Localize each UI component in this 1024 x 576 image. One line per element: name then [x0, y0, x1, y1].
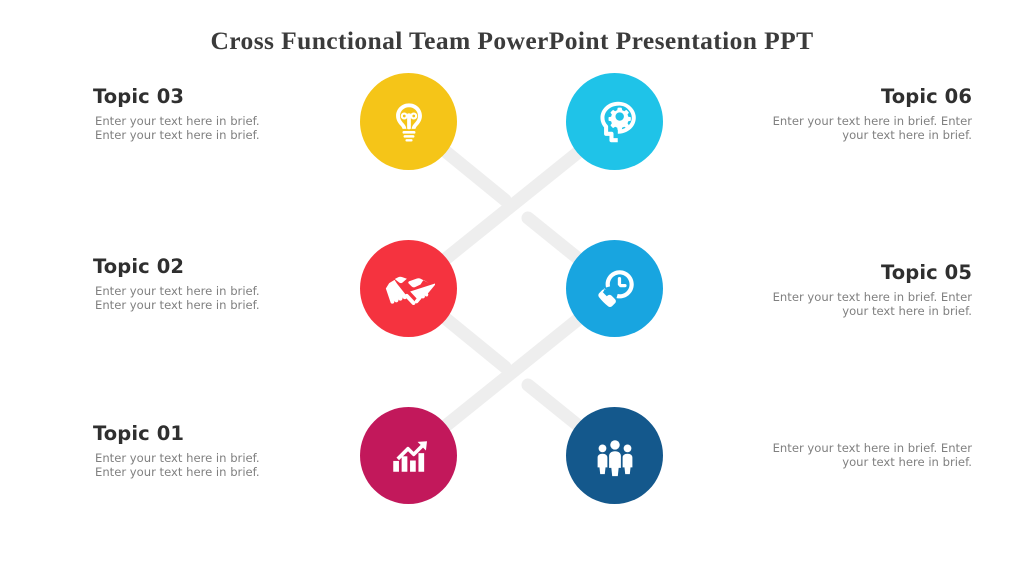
lightbulb-icon: [386, 99, 432, 145]
connector-topic03-topic05-a: [445, 151, 505, 200]
topic-body-topic-04: Enter your text here in brief. Enter you…: [772, 442, 972, 469]
topic-heading-topic-05: Topic 05: [772, 262, 972, 283]
topic-heading-topic-06: Topic 06: [772, 86, 972, 107]
phone-clock-icon: [590, 264, 640, 314]
topic-body-topic-06: Enter your text here in brief. Enter you…: [772, 115, 972, 142]
connector-topic02-topic04-a: [445, 318, 505, 367]
topic-block-topic-04: Enter your text here in brief. Enter you…: [772, 434, 972, 469]
topic-heading-topic-02: Topic 02: [93, 256, 293, 277]
node-topic-03[interactable]: [360, 73, 457, 170]
topic-block-topic-02: Topic 02 Enter your text here in brief. …: [93, 256, 293, 313]
topic-body-topic-02: Enter your text here in brief. Enter you…: [93, 285, 293, 312]
growth-chart-icon: [385, 432, 433, 480]
connector-topic06-topic02: [443, 150, 581, 261]
connector-topic02-topic04-b: [528, 385, 580, 427]
node-topic-01[interactable]: [360, 407, 457, 504]
node-topic-02[interactable]: [360, 240, 457, 337]
topic-block-topic-03: Topic 03 Enter your text here in brief. …: [93, 86, 293, 143]
connector-topic03-topic05-b: [528, 218, 580, 260]
topic-block-topic-01: Topic 01 Enter your text here in brief. …: [93, 423, 293, 480]
connector-topic05-topic01: [443, 317, 581, 428]
topic-heading-topic-01: Topic 01: [93, 423, 293, 444]
topic-body-topic-05: Enter your text here in brief. Enter you…: [772, 291, 972, 318]
slide-canvas: Cross Functional Team PowerPoint Present…: [0, 0, 1024, 576]
handshake-icon: [383, 263, 435, 315]
topic-block-topic-06: Topic 06 Enter your text here in brief. …: [772, 86, 972, 143]
page-title: Cross Functional Team PowerPoint Present…: [0, 26, 1024, 56]
topic-body-topic-01: Enter your text here in brief. Enter you…: [93, 452, 293, 479]
node-topic-06[interactable]: [566, 73, 663, 170]
node-topic-05[interactable]: [566, 240, 663, 337]
people-group-icon: [592, 433, 638, 479]
topic-heading-topic-03: Topic 03: [93, 86, 293, 107]
node-topic-04[interactable]: [566, 407, 663, 504]
head-gear-icon: [590, 97, 640, 147]
topic-block-topic-05: Topic 05 Enter your text here in brief. …: [772, 262, 972, 319]
topic-body-topic-03: Enter your text here in brief. Enter you…: [93, 115, 293, 142]
